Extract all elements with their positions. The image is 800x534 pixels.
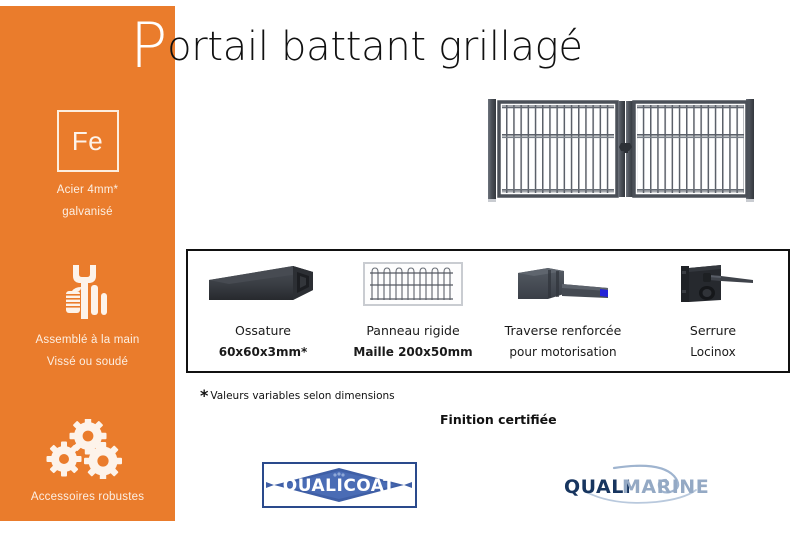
feature-sidebar: Fe Acier 4mm* galvanisé [0,6,175,521]
sidebar-feature-handmade: Assemblé à la main Vissé ou soudé [0,261,175,374]
steel-profile-icon [207,259,319,311]
sidebar-feature-handmade-line2: Vissé ou soudé [0,352,175,374]
qualicoat-wordmark: QUALICOAT [283,476,395,496]
qualimarine-logo: QUALI MARINE [556,462,716,508]
qualimarine-wordmark-part2: MARINE [622,476,709,498]
sidebar-feature-steel-line2: galvanisé [0,202,175,224]
page-title: Portail battant grillagé [130,24,583,70]
spec-frame-line2: 60x60x3mm* [219,344,308,360]
sidebar-feature-accessories-line1: Accessoires robustes [0,487,175,509]
spec-panel-line2: Maille 200x50mm [353,344,472,360]
spec-crossbar-line2: pour motorisation [509,344,616,360]
fe-symbol-label: Fe [72,126,103,157]
fe-element-icon: Fe [57,110,119,172]
lock-icon [665,259,761,311]
product-sheet-page: Fe Acier 4mm* galvanisé [0,0,800,534]
spec-lock: Serrure Locinox [638,251,788,371]
specs-box: Ossature 60x60x3mm* [186,249,790,373]
spec-frame-line1: Ossature [235,323,291,340]
double-swing-gate-photo [470,88,780,223]
sidebar-feature-steel: Fe Acier 4mm* galvanisé [0,110,175,224]
spec-lock-line2: Locinox [690,344,735,360]
footnote: *Valeurs variables selon dimensions [202,384,395,403]
qualicoat-logo: QUALICOAT [262,462,417,508]
spec-crossbar: Traverse renforcée pour motorisation [488,251,638,371]
certified-finish-label: Finition certifiée [440,412,557,427]
spec-panel: Panneau rigide Maille 200x50mm [338,251,488,371]
rigid-mesh-panel-icon [363,259,463,311]
sidebar-feature-accessories: Accessoires robustes [0,418,175,509]
spec-frame: Ossature 60x60x3mm* [188,251,338,371]
footnote-asterisk: * [200,386,208,405]
wrench-hand-icon [0,261,175,323]
footnote-text: Valeurs variables selon dimensions [210,390,394,402]
gears-icon [0,418,175,480]
page-title-rest: ortail battant grillagé [167,24,583,70]
page-title-initial: P [130,9,167,82]
spec-crossbar-line1: Traverse renforcée [505,323,622,340]
sidebar-feature-steel-line1: Acier 4mm* [0,180,175,202]
spec-panel-line1: Panneau rigide [366,323,459,340]
sidebar-feature-handmade-line1: Assemblé à la main [0,330,175,352]
reinforced-crossbar-icon [504,259,622,311]
spec-lock-line1: Serrure [690,323,736,340]
